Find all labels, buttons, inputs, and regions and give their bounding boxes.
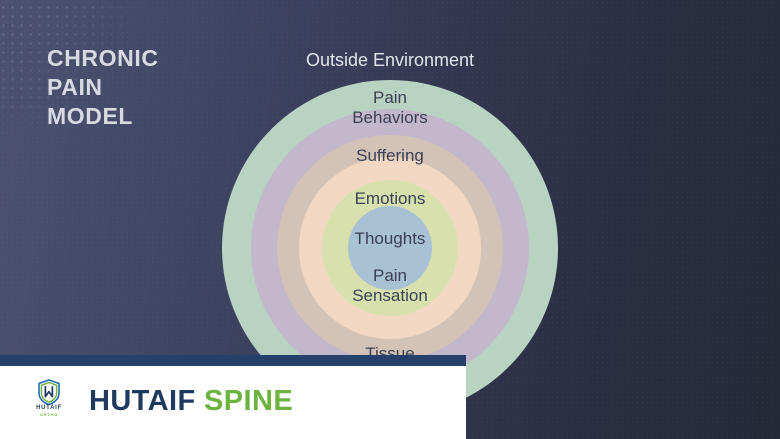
- ring-label-emotions-line-1: Emotions: [355, 189, 426, 209]
- footer-accent-bar: [0, 355, 466, 366]
- brand-name-secondary: SPINE: [204, 385, 293, 417]
- ring-label-pain-sensation: Pain Sensation: [352, 266, 428, 306]
- hutaif-ortho-logo: HUTAIF ORTHO: [30, 379, 68, 421]
- ring-label-pain-behaviors: Pain Behaviors: [352, 88, 428, 128]
- slide-canvas: CHRONIC PAIN MODEL Outside Environment P…: [0, 0, 780, 439]
- ring-label-pain-sensation-line-2: Sensation: [352, 286, 428, 306]
- outside-environment-label: Outside Environment: [306, 50, 474, 71]
- ring-label-pain-sensation-line-1: Pain: [352, 266, 428, 286]
- logo-subword: ORTHO: [40, 412, 58, 418]
- ring-label-suffering: Suffering: [356, 146, 424, 166]
- ring-label-thoughts-line-1: Thoughts: [355, 229, 426, 249]
- ring-label-pain-behaviors-line-1: Pain: [352, 88, 428, 108]
- ring-label-thoughts: Thoughts: [355, 229, 426, 249]
- ring-label-emotions: Emotions: [355, 189, 426, 209]
- footer-brand-bar: HUTAIF ORTHO HUTAIF SPINE: [0, 355, 466, 439]
- logo-wordmark: HUTAIF: [36, 405, 62, 412]
- brand-name-primary: HUTAIF: [89, 385, 196, 417]
- shield-icon: [37, 379, 61, 405]
- brand-lockup: HUTAIF SPINE: [89, 385, 293, 418]
- ring-label-suffering-line-1: Suffering: [356, 146, 424, 166]
- ring-label-pain-behaviors-line-2: Behaviors: [352, 108, 428, 128]
